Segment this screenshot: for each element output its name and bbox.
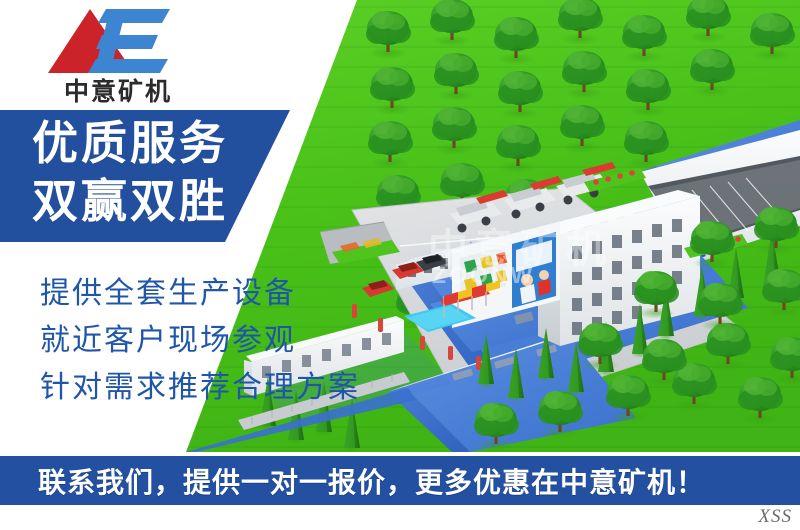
logo-wordmark: 中意矿机	[54, 77, 182, 107]
feature-list-item-2: 就近客户现场参观	[40, 317, 360, 364]
corner-watermark: XSS	[758, 506, 792, 528]
feature-list: 提供全套生产设备 就近客户现场参观 针对需求推荐合理方案	[40, 270, 360, 411]
cta-banner-text: 联系我们，提供一对一报价，更多优惠在中意矿机！	[38, 461, 705, 501]
cta-banner[interactable]: 联系我们，提供一对一报价，更多优惠在中意矿机！	[0, 456, 800, 505]
headline: 优质服务 双赢双胜	[32, 114, 228, 230]
headline-line-1: 优质服务	[32, 114, 228, 172]
feature-list-item-3: 针对需求推荐合理方案	[40, 364, 360, 411]
headline-line-2: 双赢双胜	[32, 172, 228, 230]
brand-logo[interactable]: 中意矿机	[48, 5, 183, 110]
logo-mark-icon	[48, 5, 183, 77]
promo-poster: 中意矿机 ZOONW 中意矿机 优质服务 双赢双胜 提供全套生产设备 就近客户现…	[0, 0, 800, 530]
feature-list-item-1: 提供全套生产设备	[40, 270, 360, 317]
